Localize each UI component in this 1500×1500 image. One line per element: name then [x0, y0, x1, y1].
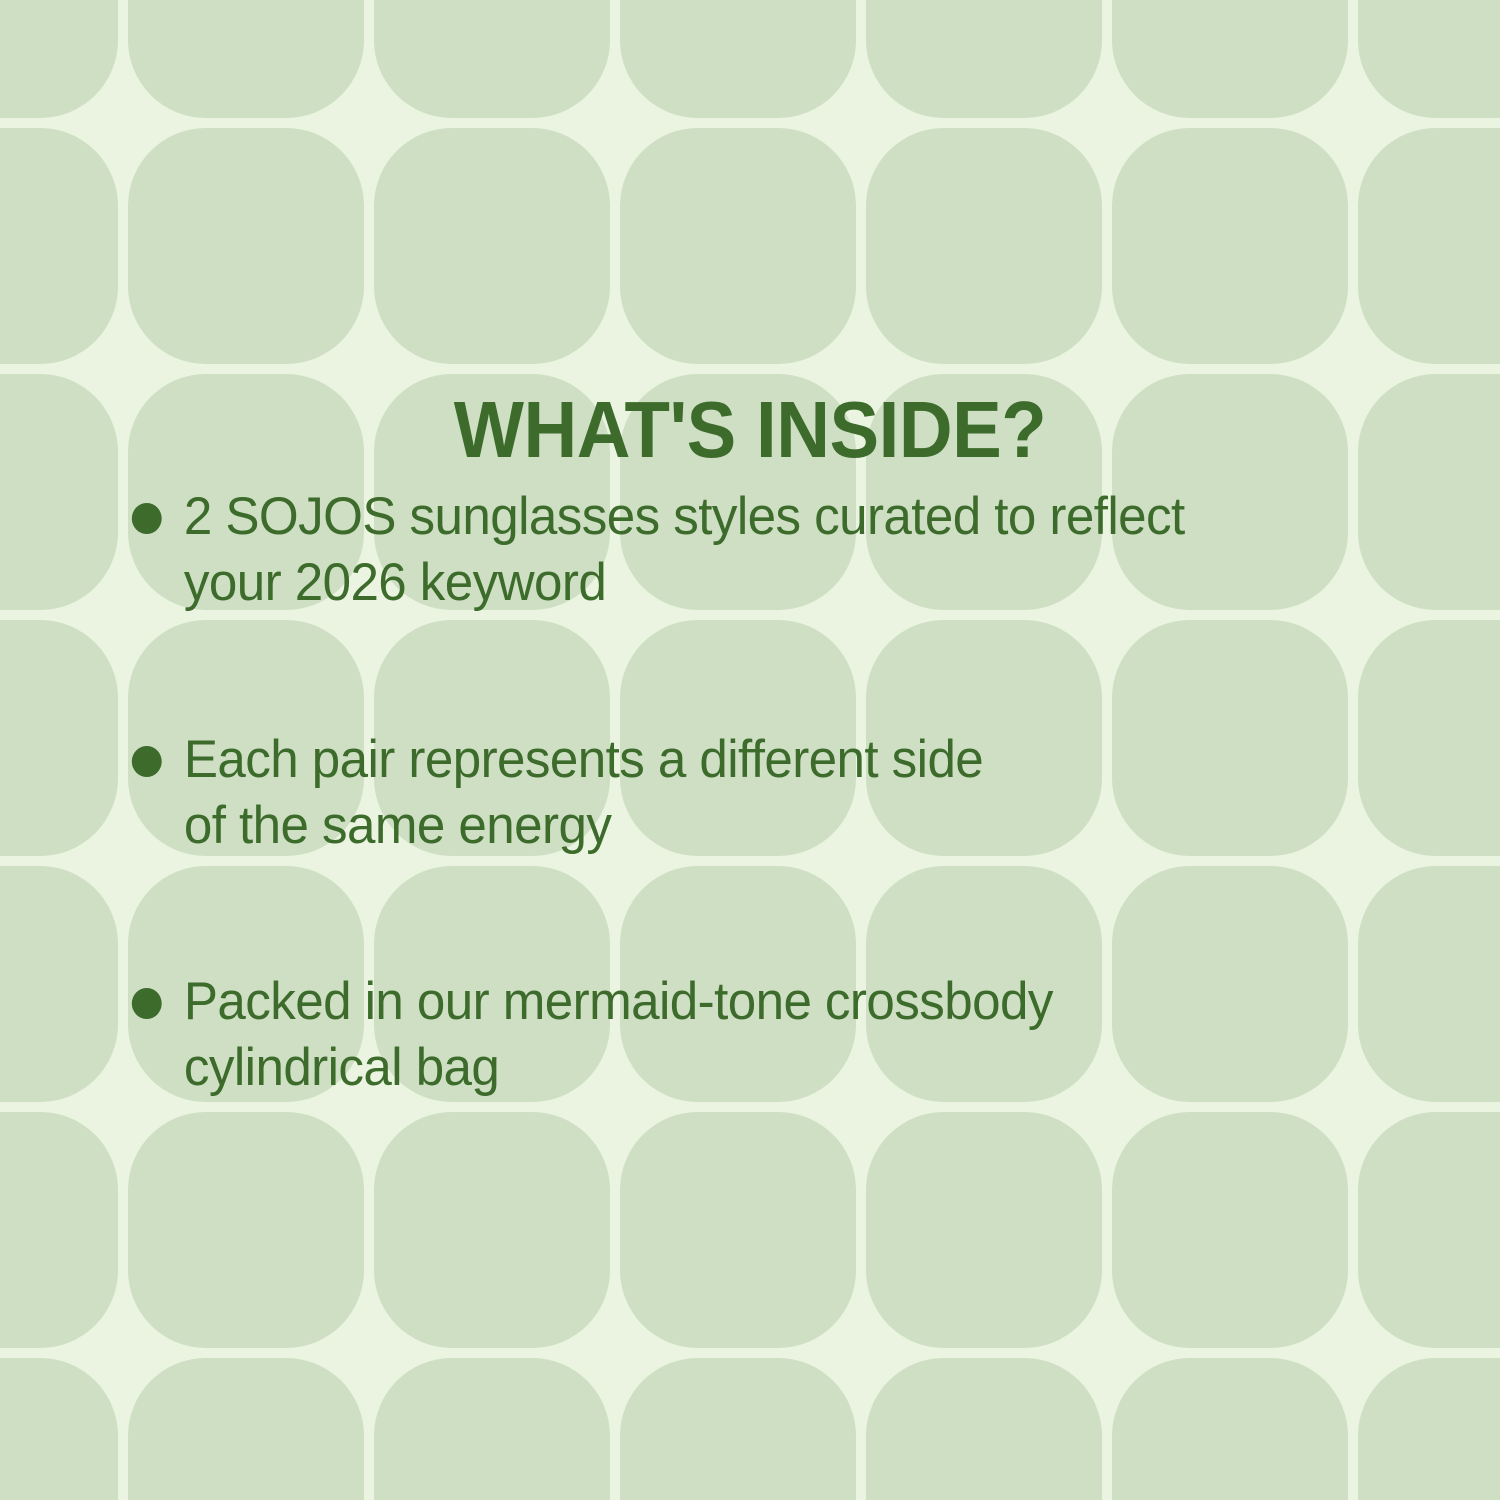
list-item: Packed in our mermaid-tone crossbody cyl…: [126, 969, 1371, 1102]
poster-content: WHAT'S INSIDE? 2 SOJOS sunglasses styles…: [0, 0, 1500, 1500]
bullet-dot-icon: [132, 988, 162, 1019]
bullet-dot-icon: [132, 503, 162, 534]
list-item: 2 SOJOS sunglasses styles curated to ref…: [126, 484, 1371, 617]
bullet-dot-icon: [132, 746, 162, 777]
list-item-label: Each pair represents a different side of…: [184, 727, 1371, 860]
page-title: WHAT'S INSIDE?: [53, 390, 1448, 470]
poster-canvas: WHAT'S INSIDE? 2 SOJOS sunglasses styles…: [0, 0, 1500, 1500]
list-item-label: 2 SOJOS sunglasses styles curated to ref…: [184, 484, 1371, 617]
list-item-label: Packed in our mermaid-tone crossbody cyl…: [184, 969, 1371, 1102]
feature-bullet-list: 2 SOJOS sunglasses styles curated to ref…: [126, 484, 1416, 1102]
list-item: Each pair represents a different side of…: [126, 727, 1371, 860]
